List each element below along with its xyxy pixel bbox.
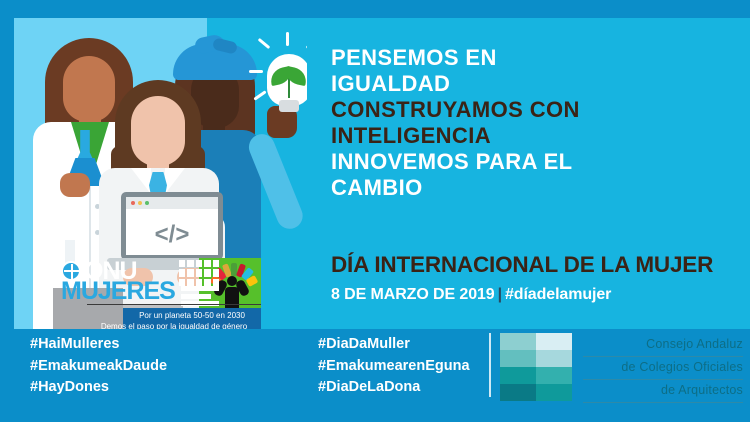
lightbulb-base <box>279 100 299 112</box>
laptop-dot-yellow <box>138 201 142 205</box>
logo-tile-4 <box>536 350 572 367</box>
logo-tile-3 <box>500 350 536 367</box>
bulb-ray-2 <box>258 38 271 49</box>
illustration-caption-line-2: Demos el paso por la igualdad de género <box>87 321 261 329</box>
logo-tile-6 <box>536 367 572 384</box>
headline-line-6: CAMBIO <box>331 175 731 201</box>
bulb-ray-1 <box>286 32 289 46</box>
illustration-caption-rule <box>87 304 261 305</box>
headline-line-2: IGUALDAD <box>331 71 731 97</box>
onu-logo-bars <box>181 286 219 306</box>
laptop-code-glyph: </> <box>121 210 223 260</box>
event-separator: | <box>495 286 505 303</box>
headline-block: PENSEMOS EN IGUALDAD CONSTRUYAMOS CON IN… <box>331 45 731 201</box>
headline-line-1: PENSEMOS EN <box>331 45 731 71</box>
bulb-ray-6 <box>253 90 266 100</box>
scientist-face <box>63 56 115 122</box>
un-globe-icon <box>61 261 81 281</box>
headline-line-5: INNOVEMOS PARA EL <box>331 149 731 175</box>
cacoa-line-3: de Arquitectos <box>583 380 743 403</box>
event-title: DÍA INTERNACIONAL DE LA MUJER <box>331 252 741 278</box>
hashtag-column-middle: #DiaDaMuller #EmakumearenEguna #DiaDeLaD… <box>318 334 470 399</box>
cacoa-line-1: Consejo Andaluz <box>583 334 743 357</box>
logo-tile-8 <box>536 384 572 401</box>
cacoa-logo-text: Consejo Andaluz de Colegios Oficiales de… <box>583 334 743 403</box>
event-subtitle: 8 DE MARZO DE 2019|#díadelamujer <box>331 286 611 304</box>
poster-canvas: </> ONU MUJERES <box>0 0 750 422</box>
logo-tile-1 <box>500 333 536 350</box>
bulb-ray-4 <box>249 70 263 73</box>
cacoa-logo-mark <box>500 333 572 401</box>
laptop-dot-red <box>131 201 135 205</box>
hashtag-dia-de-la-dona[interactable]: #DiaDeLaDona <box>318 377 470 399</box>
logo-tile-5 <box>500 367 536 384</box>
hashtag-emakumearen-eguna[interactable]: #EmakumearenEguna <box>318 356 470 378</box>
illustration-caption-line-1: Por un planeta 50-50 en 2030 <box>123 310 261 321</box>
illustration-women-in-science: </> ONU MUJERES <box>27 18 307 329</box>
laptop-dot-green <box>145 201 149 205</box>
logo-tile-7 <box>500 384 536 401</box>
headline-line-3: CONSTRUYAMOS CON <box>331 97 731 123</box>
onu-logo-dot-grid <box>179 260 219 286</box>
hashtag-dia-da-muller[interactable]: #DiaDaMuller <box>318 334 470 356</box>
onu-mujeres-logo: ONU MUJERES <box>61 260 241 308</box>
hashtag-hay-dones[interactable]: #HayDones <box>30 377 167 399</box>
hashtag-emakumeak-daude[interactable]: #EmakumeakDaude <box>30 356 167 378</box>
hashtag-column-left: #HaiMulleres #EmakumeakDaude #HayDones <box>30 334 167 399</box>
bulb-ray-3 <box>306 38 307 49</box>
student-face <box>131 96 185 166</box>
headline-line-4: INTELIGENCIA <box>331 123 731 149</box>
scientist-hand <box>60 173 90 197</box>
hashtag-hai-mulleres[interactable]: #HaiMulleres <box>30 334 167 356</box>
event-date: 8 DE MARZO DE 2019 <box>331 286 495 303</box>
logo-tile-2 <box>536 333 572 350</box>
cacoa-line-2: de Colegios Oficiales <box>583 357 743 380</box>
logo-divider <box>489 333 491 397</box>
event-hashtag: #díadelamujer <box>505 286 611 303</box>
